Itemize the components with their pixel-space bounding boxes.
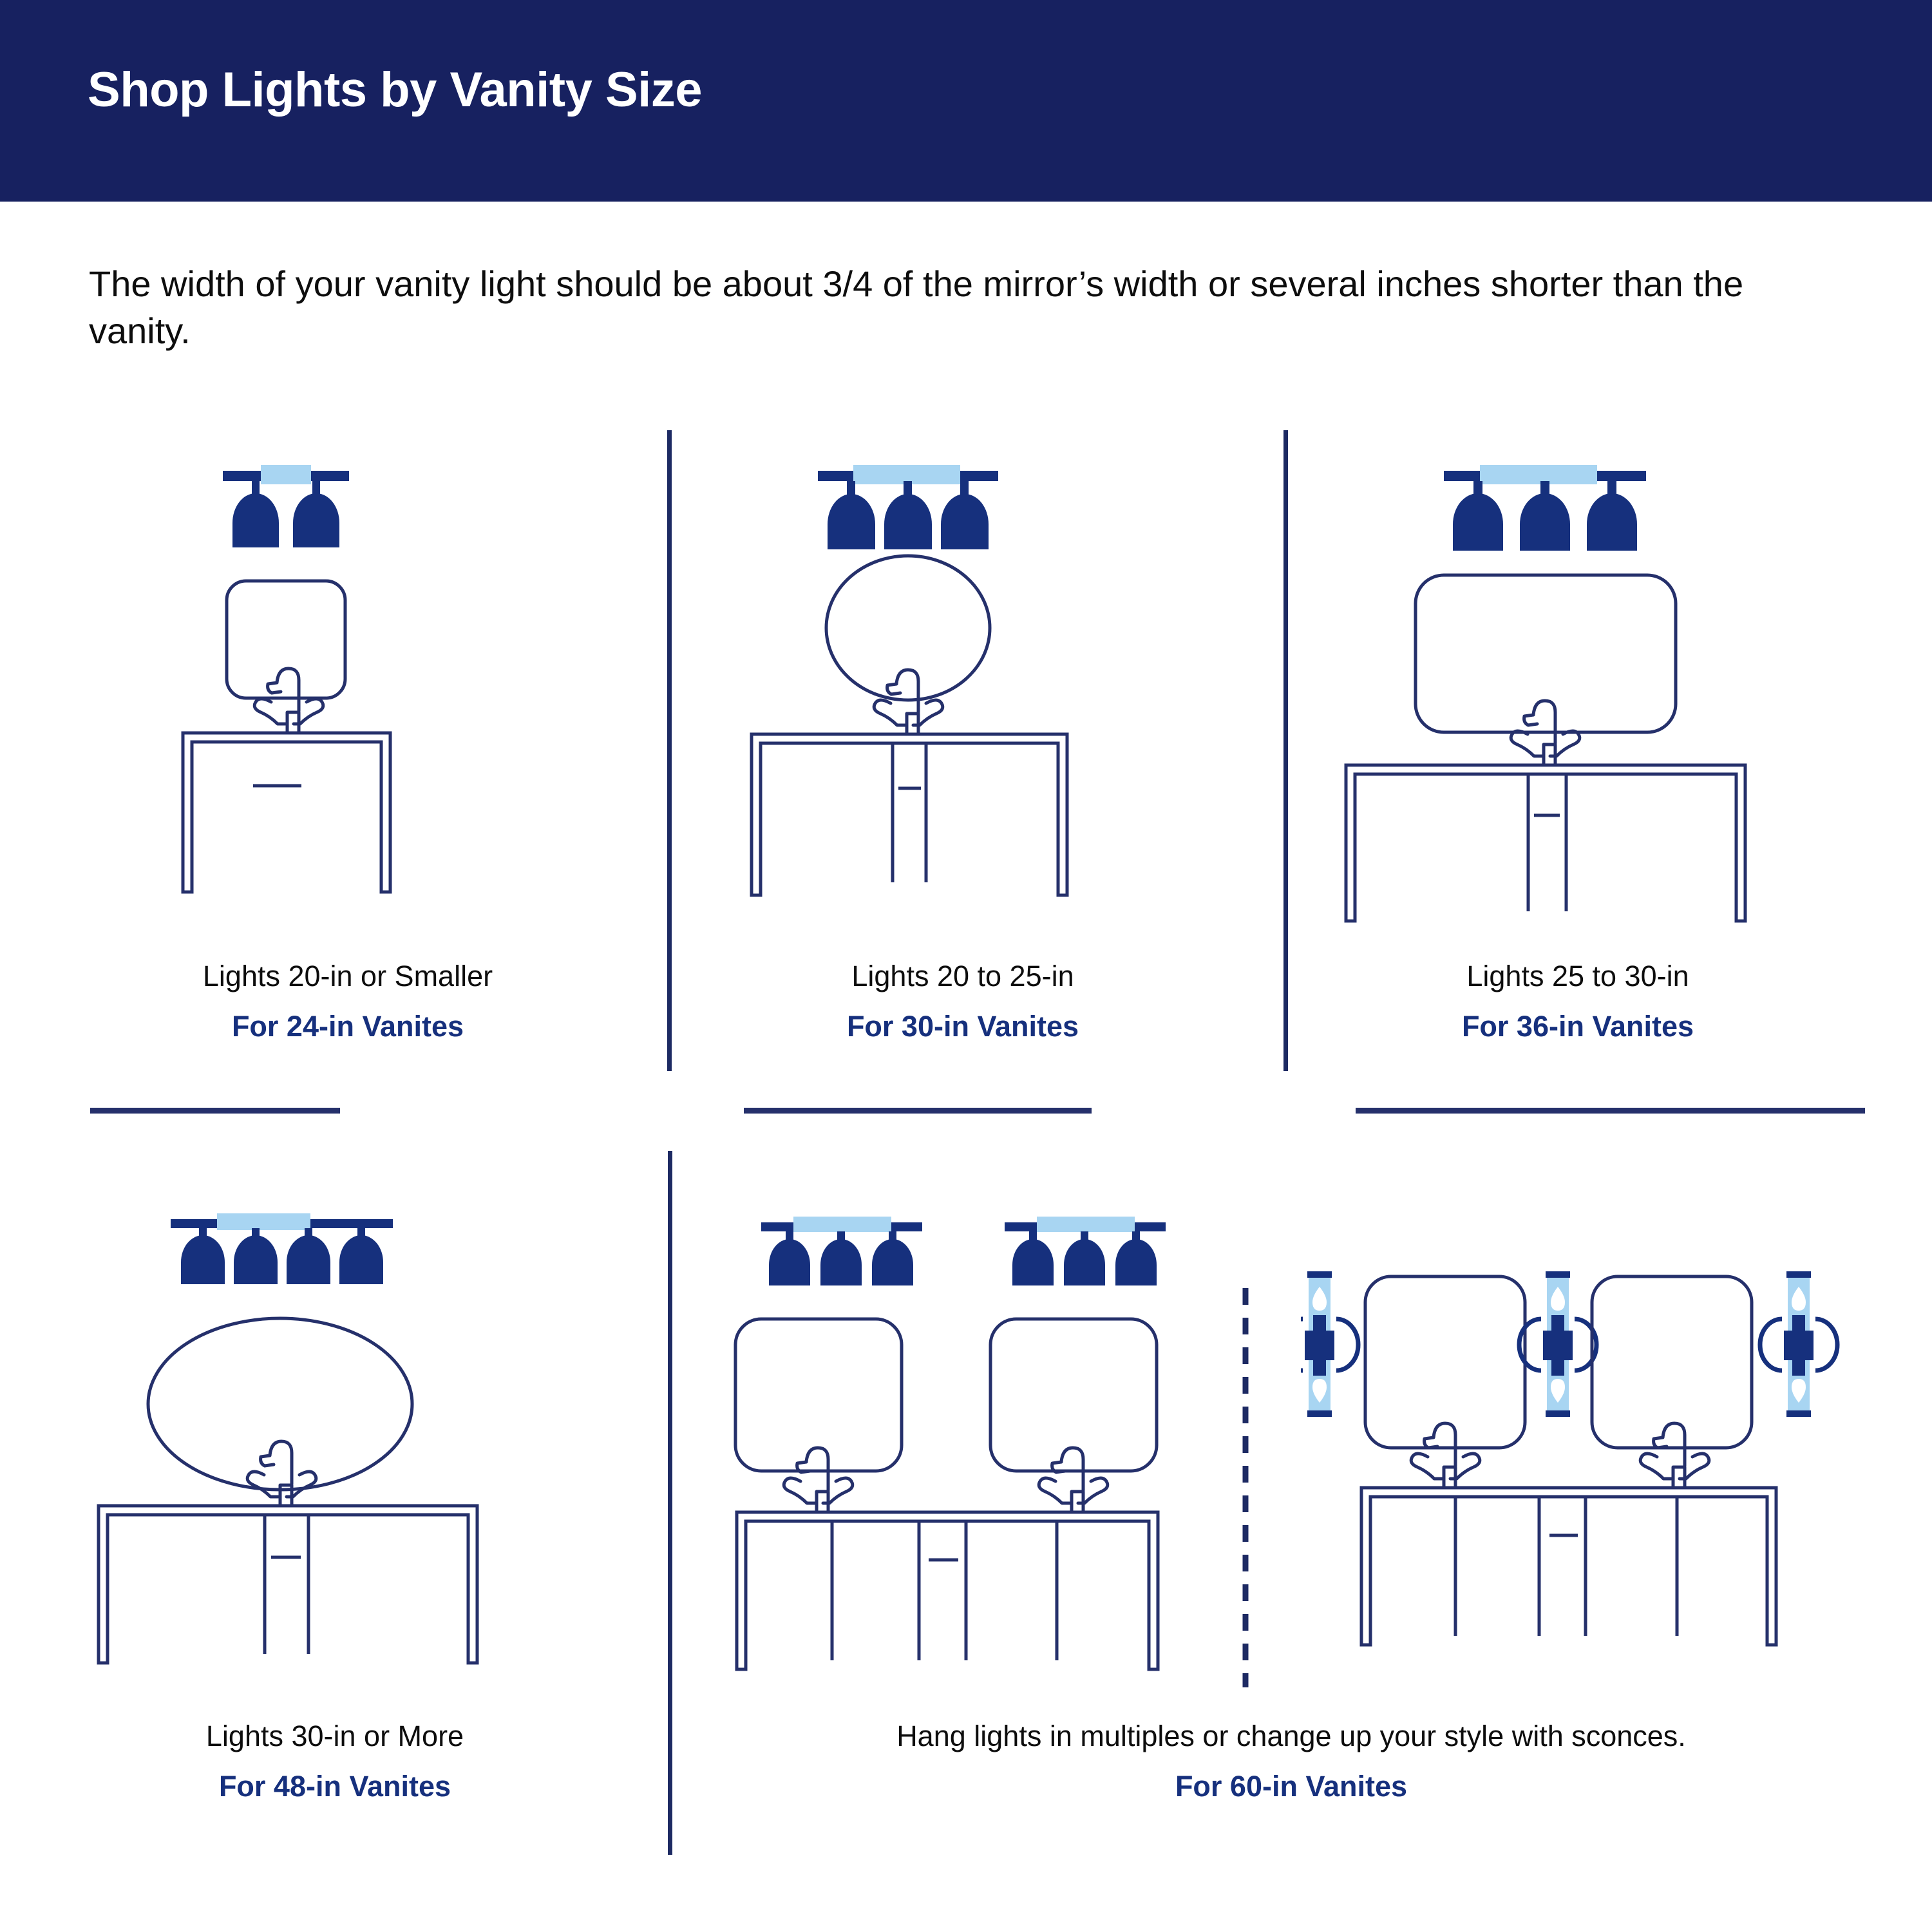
light-shade-1: [181, 1235, 225, 1284]
light-shade-3: [872, 1239, 913, 1285]
divider-vertical-bottom: [668, 1151, 672, 1855]
faucet: [874, 670, 943, 734]
panel-60in-multiples-illustration: [721, 1204, 1191, 1700]
panel-60in: Hang lights in multiples or change up yo…: [702, 1204, 1880, 1855]
mirror-rounded-rect: [227, 581, 345, 698]
bar-light-fixture-4: [171, 1213, 393, 1284]
panel-36in: Lights 25 to 30-in For 36-in Vanites: [1320, 444, 1835, 1063]
panel-36in-illustration: [1320, 444, 1835, 934]
light-shade-2: [884, 494, 932, 549]
sconce-3: [1760, 1271, 1837, 1417]
bar-light-fixture-left-3: [761, 1217, 922, 1285]
panel-60in-caption: Hang lights in multiples or change up yo…: [702, 1720, 1880, 1753]
mirror-ellipse: [148, 1318, 412, 1490]
light-bar-highlight: [1480, 465, 1597, 484]
panel-36in-caption: Lights 25 to 30-in: [1320, 960, 1835, 993]
faucet-left: [1411, 1423, 1480, 1488]
light-shade-1: [1453, 493, 1503, 551]
panel-30in-illustration: [705, 444, 1220, 934]
vanity-cabinet: [1346, 765, 1745, 921]
mirror-wide-rounded-rect: [1416, 575, 1676, 732]
faucet: [247, 1441, 316, 1506]
panel-48in-illustration: [68, 1204, 602, 1700]
bar-light-fixture-right-3: [1005, 1217, 1166, 1285]
panel-30in-subcaption: For 30-in Vanites: [705, 1010, 1220, 1043]
faucet: [254, 669, 323, 733]
light-shade-2: [820, 1239, 862, 1285]
panel-24in: Lights 20-in or Smaller For 24-in Vanite…: [90, 444, 605, 1063]
page-header: Shop Lights by Vanity Size: [0, 0, 1932, 202]
light-shade-3: [1115, 1239, 1157, 1285]
vanity-cabinet: [99, 1506, 477, 1663]
divider-vertical-top-left: [667, 430, 672, 1071]
mirror-circle: [826, 556, 990, 700]
panel-30in-caption: Lights 20 to 25-in: [705, 960, 1220, 993]
vanity-cabinet-double: [1361, 1488, 1776, 1645]
panel-24in-subcaption: For 24-in Vanites: [90, 1010, 605, 1043]
light-shade-3: [941, 494, 989, 549]
bar-light-fixture-2: [223, 465, 349, 547]
intro-paragraph: The width of your vanity light should be…: [89, 261, 1789, 355]
divider-horizontal-center: [744, 1108, 1092, 1114]
light-shade-1: [828, 494, 875, 549]
vanity-cabinet: [752, 734, 1067, 895]
light-shade-2: [1520, 493, 1570, 551]
panel-24in-illustration: [90, 444, 605, 934]
dashed-separator: [1242, 1288, 1249, 1687]
panel-48in-subcaption: For 48-in Vanites: [68, 1770, 602, 1803]
light-shade-1: [232, 493, 279, 547]
panel-48in-caption: Lights 30-in or More: [68, 1720, 602, 1753]
light-shade-3: [1587, 493, 1637, 551]
divider-vertical-top-right: [1283, 430, 1288, 1071]
bar-light-fixture-3: [818, 465, 998, 549]
light-shade-2: [234, 1235, 278, 1284]
light-shade-1: [769, 1239, 810, 1285]
page-title: Shop Lights by Vanity Size: [88, 62, 702, 118]
vanity-cabinet: [183, 733, 390, 892]
panel-30in: Lights 20 to 25-in For 30-in Vanites: [705, 444, 1220, 1063]
divider-horizontal-right: [1356, 1108, 1865, 1114]
light-bar-highlight: [793, 1217, 891, 1232]
panel-60in-sconces-illustration: [1301, 1271, 1842, 1696]
divider-horizontal-left: [90, 1108, 340, 1114]
light-shade-1: [1012, 1239, 1054, 1285]
bar-light-fixture-3: [1444, 465, 1646, 551]
light-bar-highlight: [217, 1213, 310, 1230]
vanity-cabinet-double: [737, 1512, 1158, 1669]
light-shade-2: [293, 493, 339, 547]
light-bar-highlight: [261, 465, 311, 484]
light-bar-highlight: [1037, 1217, 1135, 1232]
sconce-1: [1301, 1271, 1358, 1417]
faucet-left: [784, 1448, 853, 1512]
panel-24in-caption: Lights 20-in or Smaller: [90, 960, 605, 993]
light-shade-2: [1064, 1239, 1105, 1285]
panel-36in-subcaption: For 36-in Vanites: [1320, 1010, 1835, 1043]
panel-60in-subcaption: For 60-in Vanites: [702, 1770, 1880, 1803]
light-shade-3: [287, 1235, 330, 1284]
panel-48in: Lights 30-in or More For 48-in Vanites: [68, 1204, 602, 1855]
light-shade-4: [339, 1235, 383, 1284]
sconce-2: [1519, 1271, 1596, 1417]
faucet-right: [1640, 1423, 1709, 1488]
faucet-right: [1039, 1448, 1108, 1512]
